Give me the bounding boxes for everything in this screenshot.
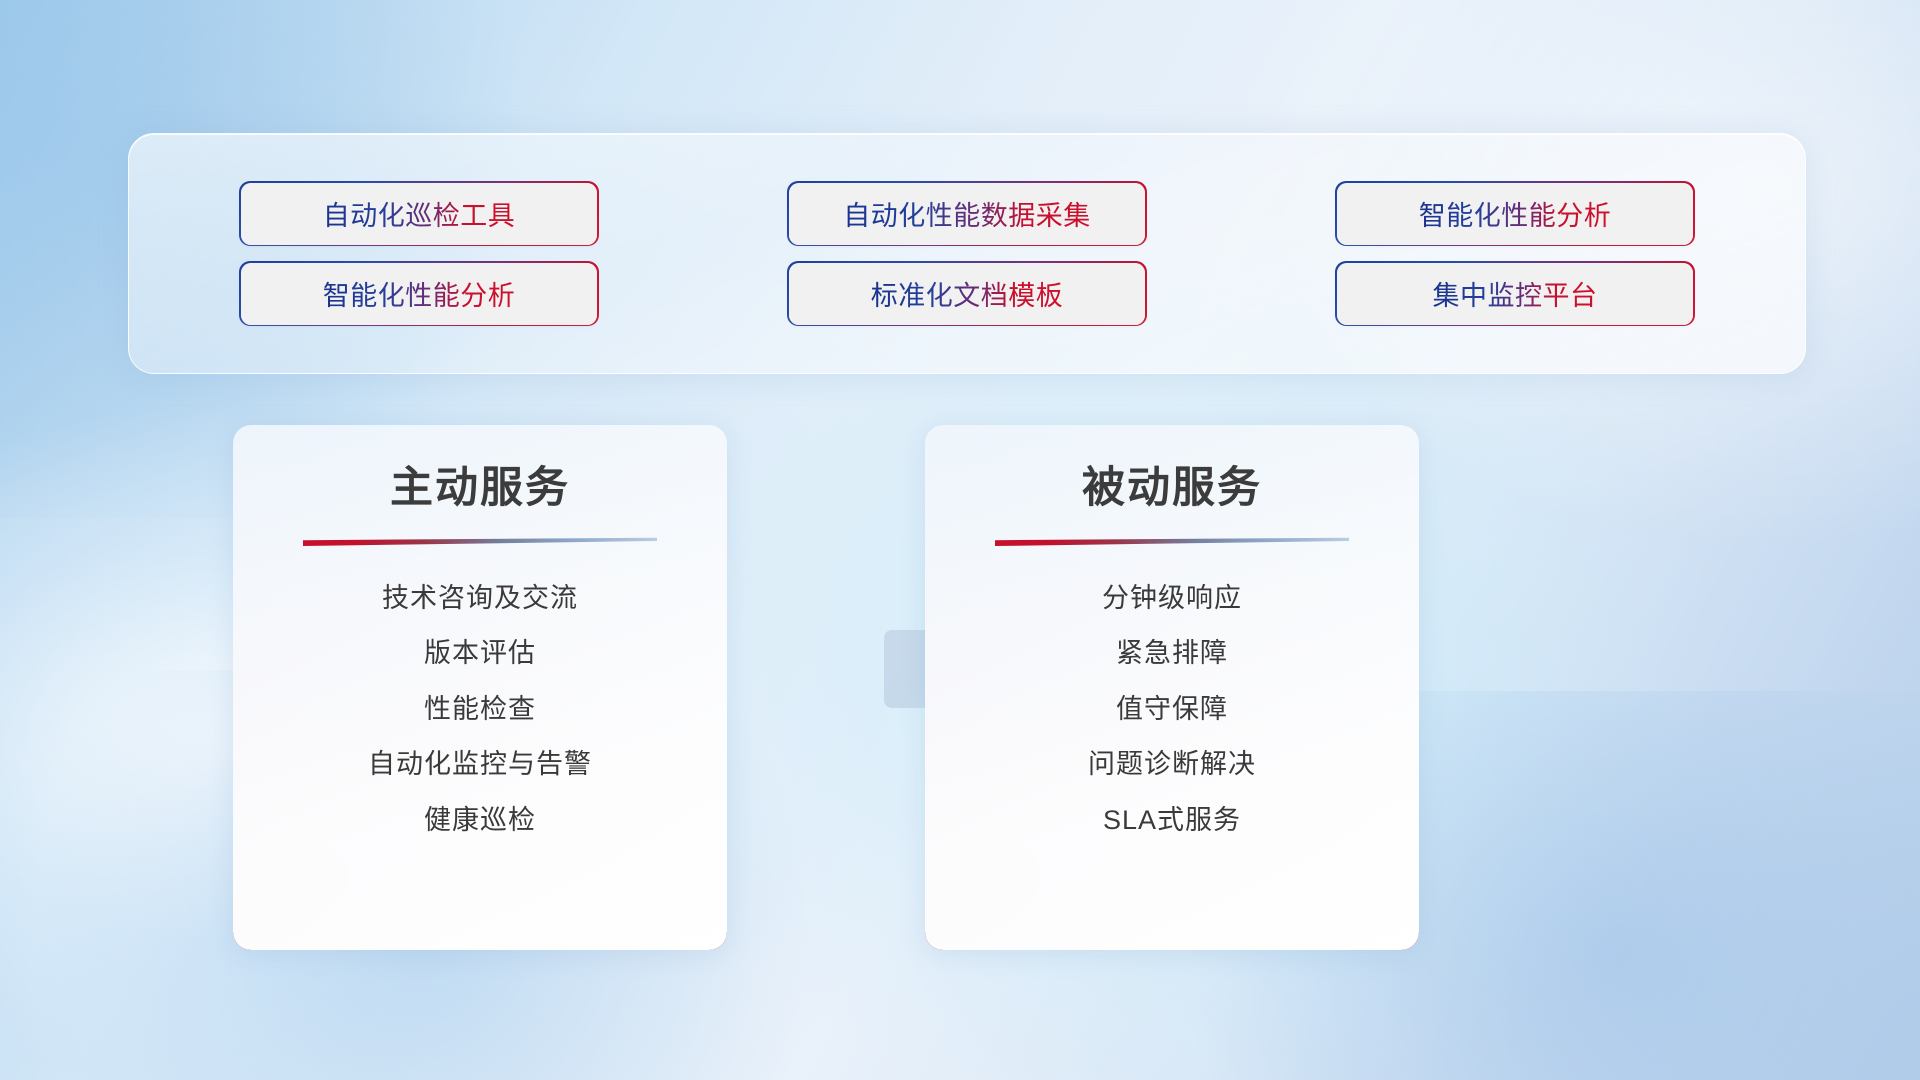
list-item: 问题诊断解决 [1088, 746, 1256, 782]
tag-pill-label: 智能化性能分析 [323, 274, 516, 313]
tag-pill-label: 自动化巡检工具 [323, 194, 516, 233]
capability-tag-panel: 自动化巡检工具 自动化性能数据采集 智能化性能分析 智能化性能分析 标准化文档模… [128, 133, 1806, 374]
tag-pill-intelligent-performance-analysis[interactable]: 智能化性能分析 [1337, 183, 1693, 245]
tag-pill-label: 集中监控平台 [1433, 274, 1598, 313]
card-title-divider [995, 537, 1349, 546]
proactive-service-card: 主动服务 技术咨询及交流 版本评估 性能检查 自动化监控与告警 健康巡检 [233, 425, 727, 950]
tag-pill-automated-inspection-tool[interactable]: 自动化巡检工具 [241, 183, 597, 245]
tag-pill-standardized-document-template[interactable]: 标准化文档模板 [789, 263, 1145, 325]
tag-pill-centralized-monitoring-platform[interactable]: 集中监控平台 [1337, 263, 1693, 325]
list-item: 健康巡检 [424, 802, 536, 838]
tag-pill-label: 智能化性能分析 [1419, 194, 1612, 233]
reactive-service-card: 被动服务 分钟级响应 紧急排障 值守保障 问题诊断解决 SLA式服务 [925, 425, 1419, 950]
tag-pill-automated-performance-data-collection[interactable]: 自动化性能数据采集 [789, 183, 1145, 245]
list-item: 性能检查 [424, 691, 536, 727]
card-title: 被动服务 [925, 453, 1419, 515]
list-item: 版本评估 [424, 635, 536, 671]
service-item-list: 技术咨询及交流 版本评估 性能检查 自动化监控与告警 健康巡检 [233, 580, 727, 838]
service-item-list: 分钟级响应 紧急排障 值守保障 问题诊断解决 SLA式服务 [925, 580, 1419, 838]
list-item: 分钟级响应 [1102, 580, 1242, 616]
card-title: 主动服务 [233, 453, 727, 515]
tag-row-2: 智能化性能分析 标准化文档模板 集中监控平台 [241, 263, 1693, 325]
card-title-divider [303, 537, 657, 546]
list-item: SLA式服务 [1103, 802, 1241, 838]
tag-pill-label: 自动化性能数据采集 [843, 194, 1091, 233]
tag-pill-label: 标准化文档模板 [871, 274, 1064, 313]
list-item: 技术咨询及交流 [382, 580, 578, 616]
list-item: 自动化监控与告警 [368, 746, 592, 782]
tag-row-1: 自动化巡检工具 自动化性能数据采集 智能化性能分析 [241, 183, 1693, 245]
list-item: 紧急排障 [1116, 635, 1228, 671]
list-item: 值守保障 [1116, 691, 1228, 727]
tag-pill-intelligent-performance-analysis-2[interactable]: 智能化性能分析 [241, 263, 597, 325]
